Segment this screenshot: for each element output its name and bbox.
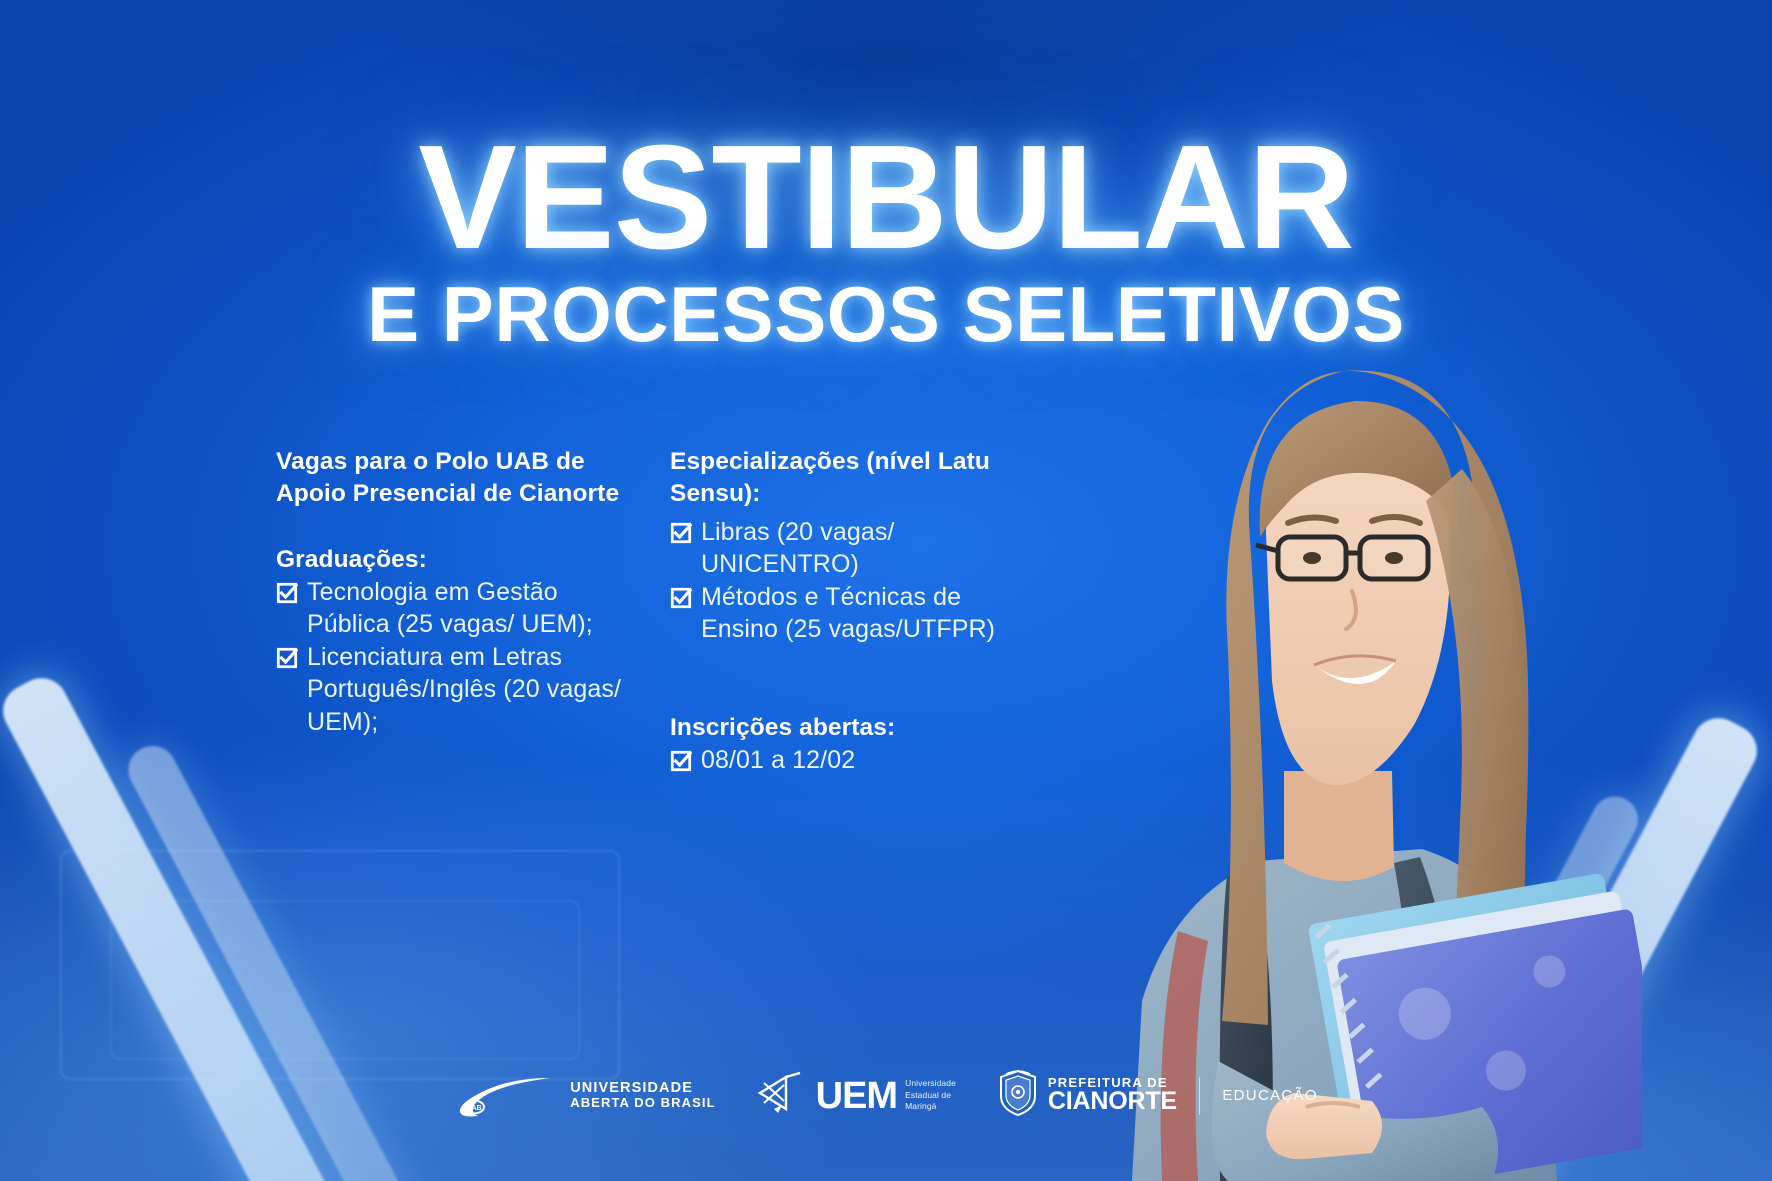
uab-line2: ABERTA DO BRASIL xyxy=(570,1096,715,1110)
uem-emblem-icon xyxy=(756,1071,808,1120)
enrollment-dates-item: 08/01 a 12/02 xyxy=(670,744,1016,777)
prefeitura-line2: CIANORTE xyxy=(1048,1089,1177,1115)
list-item: Licenciatura em Letras Português/Inglês … xyxy=(276,641,622,739)
checkbox-checked-icon xyxy=(670,587,692,609)
list-item: Métodos e Técnicas de Ensino (25 vagas/U… xyxy=(670,581,1016,646)
svg-text:UAB: UAB xyxy=(467,1105,482,1112)
content-columns: Vagas para o Polo UAB de Apoio Presencia… xyxy=(276,446,1016,776)
logo-divider xyxy=(1199,1077,1201,1115)
checkbox-checked-icon xyxy=(670,750,692,772)
uab-wordmark: UNIVERSIDADE ABERTA DO BRASIL xyxy=(570,1081,715,1110)
list-item: Tecnologia em Gestão Pública (25 vagas/ … xyxy=(276,576,622,641)
left-column: Vagas para o Polo UAB de Apoio Presencia… xyxy=(276,446,622,776)
uem-acronym: UEM xyxy=(816,1077,897,1115)
right-column: Especializações (nível Latu Sensu): Libr… xyxy=(670,446,1016,776)
graduacoes-label: Graduações: xyxy=(276,544,622,576)
checkbox-checked-icon xyxy=(276,647,298,669)
right-column-heading: Especializações (nível Latu Sensu): xyxy=(670,446,1016,510)
logo-prefeitura-cianorte: PREFEITURA DE CIANORTE EDUCAÇÃO xyxy=(996,1068,1318,1123)
checkbox-checked-icon xyxy=(276,582,298,604)
prefeitura-wordmark: PREFEITURA DE CIANORTE xyxy=(1048,1076,1177,1115)
poster-canvas: VESTIBULAR E PROCESSOS SELETIVOS xyxy=(0,0,1772,1181)
spacer xyxy=(670,646,1016,712)
page-title: VESTIBULAR xyxy=(0,128,1772,267)
page-subtitle: E PROCESSOS SELETIVOS xyxy=(0,275,1772,353)
cianorte-coat-of-arms-icon xyxy=(996,1068,1040,1123)
logo-uab: UAB UNIVERSIDADE ABERTA DO BRASIL xyxy=(454,1074,715,1118)
prefeitura-department: EDUCAÇÃO xyxy=(1222,1087,1317,1104)
list-item-label: Métodos e Técnicas de Ensino (25 vagas/U… xyxy=(701,581,1016,646)
title-block: VESTIBULAR E PROCESSOS SELETIVOS xyxy=(0,128,1772,353)
list-item-label: Licenciatura em Letras Português/Inglês … xyxy=(307,641,622,739)
uem-line3: Maringá xyxy=(905,1101,956,1113)
checkbox-checked-icon xyxy=(670,522,692,544)
left-column-heading: Vagas para o Polo UAB de Apoio Presencia… xyxy=(276,446,622,510)
uab-swoosh-icon: UAB xyxy=(454,1074,562,1118)
logo-uem: UEM Universidade Estadual de Maringá xyxy=(756,1071,956,1120)
uem-subtitle: Universidade Estadual de Maringá xyxy=(905,1078,956,1113)
list-item-label: Tecnologia em Gestão Pública (25 vagas/ … xyxy=(307,576,622,641)
uem-line1: Universidade xyxy=(905,1078,956,1090)
uem-line2: Estadual de xyxy=(905,1090,956,1102)
list-item-label: Libras (20 vagas/ UNICENTRO) xyxy=(701,516,1016,581)
enrollment-dates-label: 08/01 a 12/02 xyxy=(701,744,1016,777)
logo-bar: UAB UNIVERSIDADE ABERTA DO BRASIL UEM xyxy=(0,1068,1772,1123)
inscricoes-label: Inscrições abertas: xyxy=(670,712,1016,744)
spacer xyxy=(276,510,622,544)
list-item: Libras (20 vagas/ UNICENTRO) xyxy=(670,516,1016,581)
uab-line1: UNIVERSIDADE xyxy=(570,1081,715,1096)
